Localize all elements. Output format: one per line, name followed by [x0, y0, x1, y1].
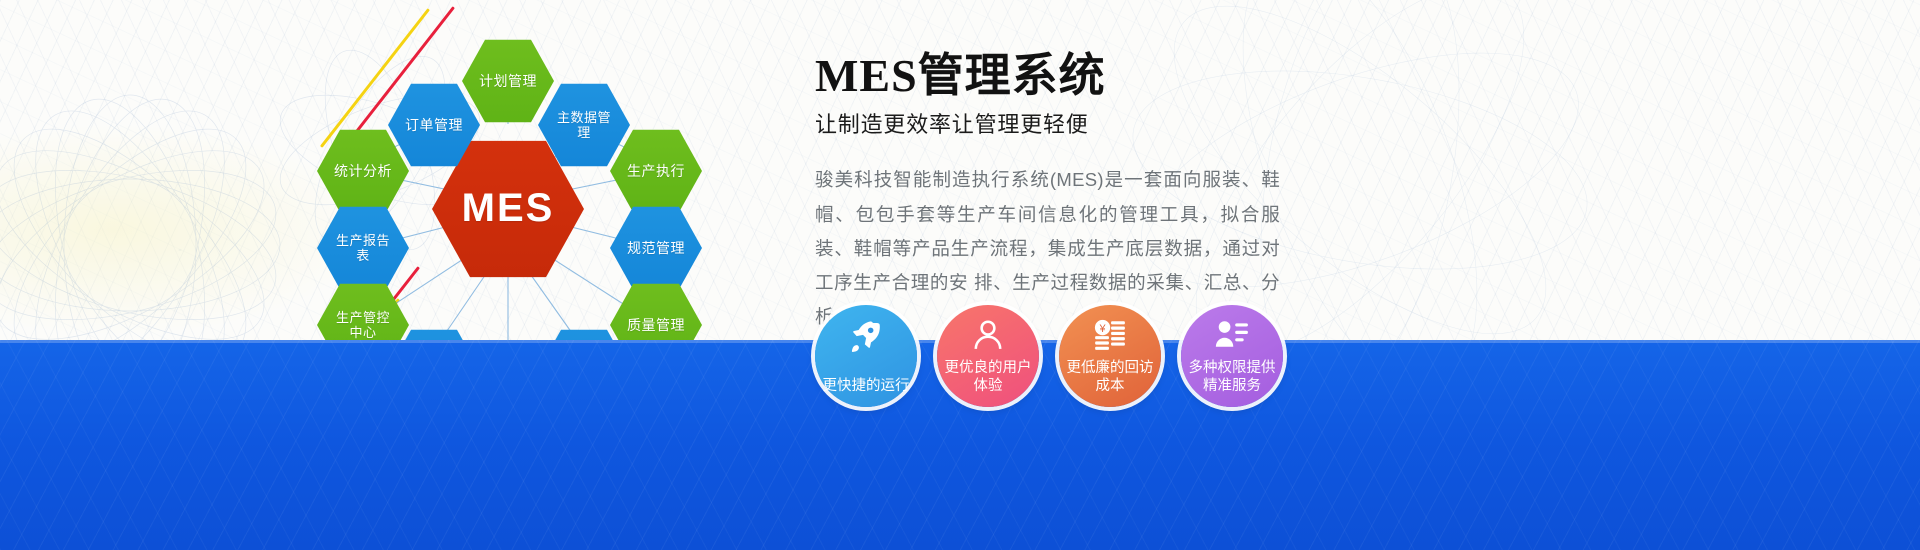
- hex-label: 生产报告表: [331, 233, 395, 264]
- money-icon: ¥: [1093, 318, 1127, 352]
- hex-label: 规范管理: [627, 240, 685, 257]
- badge-lower-cost[interactable]: ¥更低廉的回访成本: [1059, 305, 1161, 407]
- roles-icon: [1215, 318, 1249, 352]
- user-icon: [971, 318, 1005, 352]
- hex-label: 质量管理: [627, 317, 685, 334]
- badge-label: 更优良的用户体验: [942, 359, 1034, 395]
- hex-label: 计划管理: [479, 73, 537, 90]
- badge-permissions-service[interactable]: 多种权限提供精准服务: [1181, 305, 1283, 407]
- page-title: MES管理系统: [815, 52, 1875, 100]
- badge-label: 更低廉的回访成本: [1064, 359, 1156, 395]
- hex-label: 主数据管理: [552, 110, 616, 141]
- badge-label: 更快捷的运行: [820, 377, 912, 395]
- hex-core-label: MES: [462, 185, 555, 232]
- mes-promo-banner: MES 计划管理订单管理主数据管理统计分析生产执行生产报告表规范管理生产管控中心…: [0, 0, 1920, 550]
- page-subtitle: 让制造更效率让管理更轻便: [815, 107, 1875, 139]
- hex-label: 订单管理: [405, 117, 463, 134]
- hex-label: 生产管控中心: [331, 310, 395, 341]
- rocket-icon: [849, 318, 883, 352]
- svg-text:¥: ¥: [1099, 323, 1106, 335]
- hex-label: 统计分析: [334, 163, 392, 180]
- feature-badge-list: 更快捷的运行更优良的用户体验¥更低廉的回访成本多种权限提供精准服务: [815, 305, 1283, 407]
- banner-content: MES管理系统 让制造更效率让管理更轻便 骏美科技智能制造执行系统(MES)是一…: [815, 52, 1875, 334]
- badge-better-experience[interactable]: 更优良的用户体验: [937, 305, 1039, 407]
- badge-label: 多种权限提供精准服务: [1186, 359, 1278, 395]
- background-yellow-glow: [0, 120, 380, 340]
- badge-faster-operation[interactable]: 更快捷的运行: [815, 305, 917, 407]
- hex-label: 生产执行: [627, 163, 685, 180]
